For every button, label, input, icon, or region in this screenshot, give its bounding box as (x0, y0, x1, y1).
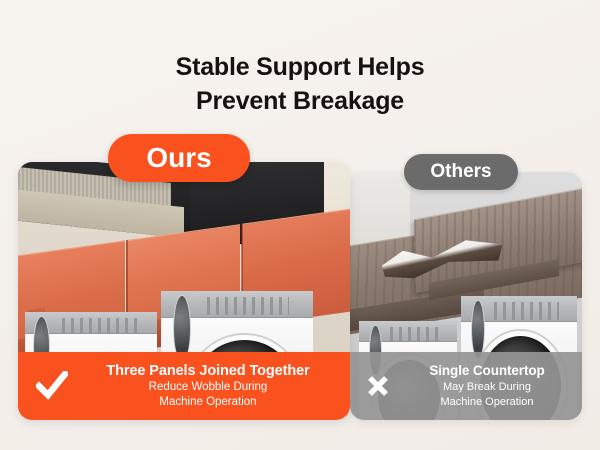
others-washer-right-buttons (494, 302, 559, 319)
others-washer-right-knob (471, 300, 485, 360)
ours-washer-right-buttons (207, 297, 289, 315)
others-caption-title: Single Countertop (398, 362, 576, 380)
ours-caption-bar: Three Panels Joined Together Reduce Wobb… (18, 352, 350, 420)
ours-caption-subtitle-2: Machine Operation (72, 395, 344, 410)
ours-washer-left-buttons (62, 318, 139, 333)
ours-badge: Ours (108, 134, 250, 182)
others-badge: Others (404, 154, 518, 190)
ours-caption-subtitle-1: Reduce Wobble During (72, 380, 344, 395)
others-caption-text: Single Countertop May Break During Machi… (398, 362, 582, 410)
ours-caption-title: Three Panels Joined Together (72, 362, 344, 380)
others-washer-left-buttons (390, 327, 441, 341)
others-caption-bar: Single Countertop May Break During Machi… (350, 352, 582, 420)
others-caption-subtitle-2: Machine Operation (398, 395, 576, 410)
check-icon (32, 366, 72, 406)
others-wall-accent (350, 172, 410, 246)
ours-caption-text: Three Panels Joined Together Reduce Wobb… (72, 362, 350, 410)
others-caption-subtitle-1: May Break During (398, 380, 576, 395)
comparison-stage: Single Countertop May Break During Machi… (0, 0, 600, 450)
cross-icon (358, 366, 398, 406)
promo-page: Stable Support Helps Prevent Breakage (0, 0, 600, 450)
